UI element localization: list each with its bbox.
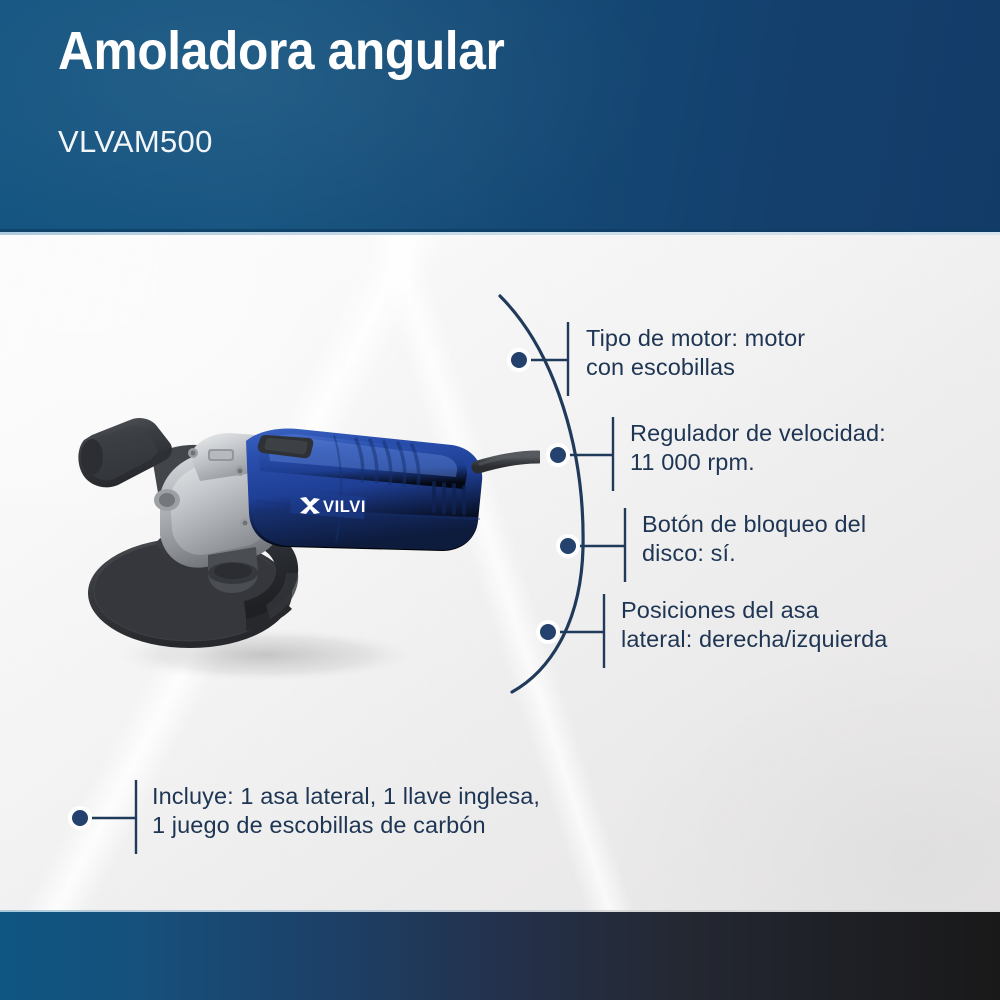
- svg-text:VILVI: VILVI: [323, 498, 366, 516]
- power-cord: [478, 454, 538, 467]
- callout-label-motor-type: Tipo de motor: motor con escobillas: [586, 324, 958, 381]
- callout-label-disc-lock-button: Botón de bloqueo del disco: sí.: [642, 510, 990, 567]
- page-title: Amoladora angular: [58, 22, 504, 81]
- callout-label-side-handle-positions: Posiciones del asa lateral: derecha/izqu…: [621, 596, 991, 653]
- product-infographic: Amoladora angular VLVAM500: [0, 0, 1000, 1000]
- footer-bar: [0, 912, 1000, 1000]
- product-image: VILVI: [60, 405, 540, 690]
- spindle-nut: [208, 547, 258, 593]
- callout-label-speed-regulator: Regulador de velocidad: 11 000 rpm.: [630, 419, 990, 476]
- callout-label-includes: Incluye: 1 asa lateral, 1 llave inglesa,…: [152, 782, 672, 839]
- product-model: VLVAM500: [58, 124, 213, 160]
